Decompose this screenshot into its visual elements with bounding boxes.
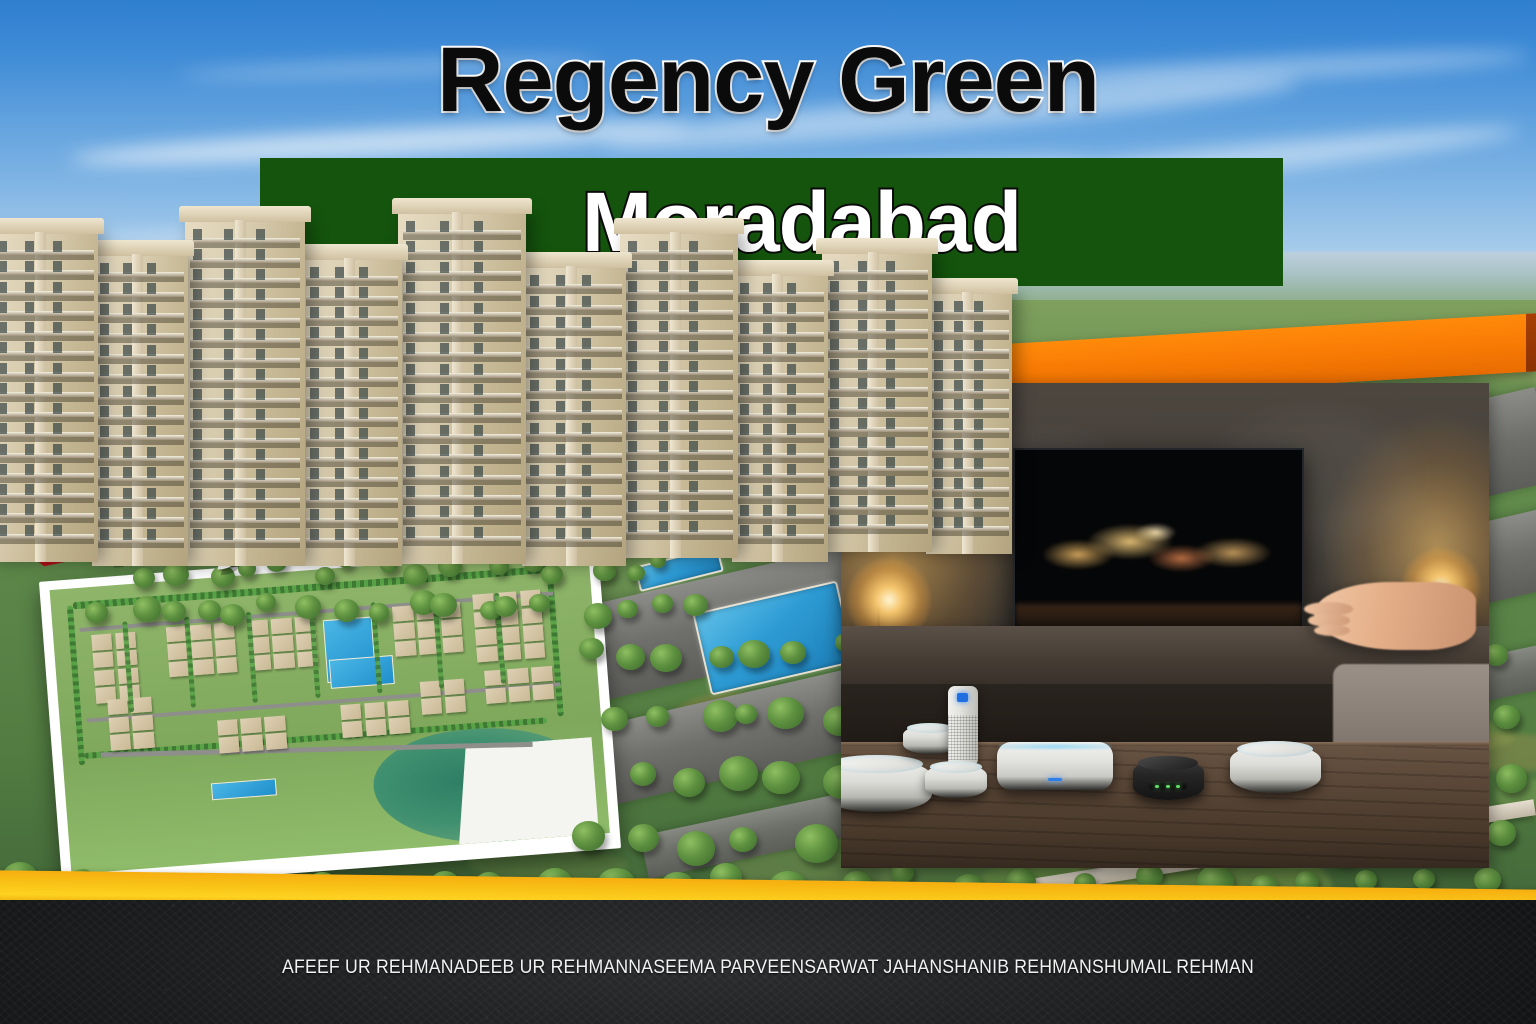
tower-window (954, 419, 963, 430)
tower-balcony (190, 518, 300, 523)
footer-texture-speck (387, 1019, 389, 1021)
tower-window (25, 282, 34, 293)
tower-window (628, 461, 637, 472)
tower-window (359, 489, 368, 500)
footer-texture-speck (149, 950, 150, 951)
footer-texture-speck (1263, 923, 1265, 925)
tower-window (147, 365, 156, 376)
tree (220, 604, 245, 626)
tower-window (474, 527, 483, 538)
tower-window (556, 465, 565, 476)
footer-texture-speck (1116, 933, 1119, 936)
tower-balcony (526, 410, 622, 415)
apartment-tower (185, 220, 305, 566)
footer-texture-speck (697, 1020, 699, 1022)
tower-window (886, 418, 895, 429)
footer-texture-speck (718, 917, 720, 919)
tower-window (256, 509, 265, 520)
tower-window (224, 329, 233, 340)
footer-texture-speck (1011, 953, 1012, 954)
tower-window (886, 457, 895, 468)
tower-window (556, 401, 565, 412)
footer-texture-speck (1405, 907, 1407, 909)
tower-window (689, 481, 698, 492)
footer-texture-speck (1448, 1001, 1450, 1003)
tower-window (123, 508, 132, 519)
tower-window (858, 457, 867, 468)
tower-window (256, 409, 265, 420)
footer-texture-speck (1136, 998, 1138, 1000)
tower-window (25, 302, 34, 313)
footer-texture-speck (43, 995, 45, 997)
footer-texture-speck (920, 987, 922, 989)
tower-window (763, 464, 772, 475)
tower-window (763, 384, 772, 395)
footer-texture-speck (277, 926, 279, 928)
credits-text: AFEEF UR REHMANADEEB UR REHMANNASEEMA PA… (54, 957, 1482, 979)
site-plan-villa-block (242, 734, 264, 751)
tower-balcony (625, 510, 734, 515)
tower-balcony (526, 453, 622, 458)
tower-balcony (826, 524, 927, 529)
footer-texture-speck (1172, 1006, 1175, 1009)
tower-balcony (826, 368, 927, 373)
tree (646, 706, 669, 726)
tower-window (0, 464, 7, 475)
tower-balcony (625, 410, 734, 415)
tower-window (53, 464, 62, 475)
tower-column (772, 274, 783, 562)
tower-balcony (736, 453, 824, 458)
tower-window (582, 507, 591, 518)
footer-texture-speck (361, 996, 364, 999)
tower-balcony (625, 310, 734, 315)
tower-balcony (625, 270, 734, 275)
tower-window (659, 241, 668, 252)
tower-window (193, 529, 202, 540)
tower-window (53, 261, 62, 272)
tower-window (830, 398, 839, 409)
tower-balcony (403, 250, 521, 255)
tower-window (123, 304, 132, 315)
tower-window (858, 418, 867, 429)
site-plan-villa-block (92, 652, 114, 669)
tower-column (235, 220, 246, 566)
tower-balcony (403, 495, 521, 500)
tower-window (740, 444, 749, 455)
apartment-tower (620, 232, 738, 558)
footer-texture-speck (1269, 949, 1271, 951)
tower-window (310, 529, 319, 540)
tower-window (582, 317, 591, 328)
tower-window (224, 289, 233, 300)
tower-balcony (306, 316, 398, 321)
footer-texture-speck (504, 986, 506, 988)
tower-window (763, 364, 772, 375)
footer-texture-speck (351, 944, 354, 947)
footer-texture-speck (1514, 910, 1515, 911)
footer-texture-speck (911, 1002, 913, 1004)
tower-balcony (0, 351, 94, 356)
tower-window (100, 304, 109, 315)
footer-texture-speck (416, 953, 418, 955)
tower-balcony (403, 475, 521, 480)
tower-balcony (96, 313, 184, 318)
site-plan-villa-block (532, 683, 554, 700)
tower-balcony (96, 435, 184, 440)
tower-balcony (306, 417, 398, 422)
tower-window (359, 287, 368, 298)
tower-window (25, 444, 34, 455)
site-plan-villa-block (364, 702, 386, 719)
tower-balcony (403, 291, 521, 296)
tower-window (193, 389, 202, 400)
tower-window (25, 464, 34, 475)
tower-window (886, 476, 895, 487)
tower-balcony (306, 538, 398, 543)
tower-balcony (96, 456, 184, 461)
tower-window (474, 486, 483, 497)
tower-window (556, 528, 565, 539)
tower-window (830, 515, 839, 526)
footer-texture-speck (751, 948, 752, 949)
footer-texture-speck (1099, 917, 1101, 919)
tower-window (256, 389, 265, 400)
tower-balcony (526, 305, 622, 310)
tower-balcony (96, 395, 184, 400)
footer-texture-speck (250, 922, 252, 924)
tower-balcony (190, 318, 300, 323)
tower-balcony (736, 514, 824, 519)
tower-window (147, 324, 156, 335)
tower-window (147, 529, 156, 540)
tower-window (530, 423, 539, 434)
tower-window (787, 485, 796, 496)
tower-window (440, 262, 449, 273)
site-plan-villa-block (94, 669, 116, 686)
tower-window (53, 363, 62, 374)
tower-balcony (190, 358, 300, 363)
tower-window (474, 303, 483, 314)
tower-balcony (190, 538, 300, 543)
footer-texture-speck (1336, 990, 1338, 992)
tower-window (763, 283, 772, 294)
tower-window (147, 304, 156, 315)
site-plan-pool (211, 779, 277, 801)
footer-texture-speck (541, 1003, 542, 1004)
tower-window (628, 441, 637, 452)
tower-window (530, 317, 539, 328)
footer-texture-speck (819, 949, 821, 951)
tower-window (858, 339, 867, 350)
tower-window (830, 437, 839, 448)
tree (677, 831, 715, 866)
footer-texture-speck (683, 949, 685, 951)
tree (403, 564, 428, 586)
footer-texture-speck (256, 906, 257, 907)
tower-window (123, 426, 132, 437)
tower-window (659, 421, 668, 432)
footer-texture-speck (1340, 942, 1343, 945)
tower-window (335, 489, 344, 500)
tower-window (659, 501, 668, 512)
footer-texture-speck (652, 1009, 654, 1011)
tower-balcony (96, 333, 184, 338)
dark-smart-speaker-device (1133, 759, 1204, 800)
footer-texture-speck (375, 944, 377, 946)
tower-window (628, 501, 637, 512)
tower-balcony (625, 370, 734, 375)
tower-window (474, 445, 483, 456)
site-plan-villa-block (531, 666, 553, 683)
tower-balcony (826, 407, 927, 412)
tower-window (787, 364, 796, 375)
tower-window (787, 283, 796, 294)
tree (334, 599, 359, 621)
footer-texture-speck (164, 988, 167, 991)
tower-window (934, 340, 943, 351)
tower-window (256, 349, 265, 360)
site-plan-villa-block (271, 617, 293, 634)
tower-window (474, 466, 483, 477)
tower-balcony (736, 373, 824, 378)
tower-balcony (0, 331, 94, 336)
footer-texture-speck (594, 903, 596, 905)
tower-window (224, 349, 233, 360)
tower-balcony (625, 430, 734, 435)
footer-texture-speck (858, 941, 861, 944)
tower-window (628, 341, 637, 352)
site-plan-villa-block (387, 700, 409, 717)
tower-window (740, 424, 749, 435)
footer-texture-speck (765, 953, 766, 954)
tower-window (582, 486, 591, 497)
tower-window (689, 361, 698, 372)
tower-window (406, 425, 415, 436)
tower-window (123, 345, 132, 356)
tower-window (25, 423, 34, 434)
tower-window (740, 404, 749, 415)
tower-window (406, 303, 415, 314)
tower-window (530, 528, 539, 539)
tower-window (530, 401, 539, 412)
tower-window (359, 509, 368, 520)
footer-texture-speck (1007, 907, 1009, 909)
tower-window (335, 388, 344, 399)
tower-window (628, 281, 637, 292)
tree (767, 697, 803, 730)
tower-balcony (0, 412, 94, 417)
footer-texture-speck (466, 941, 467, 942)
footer-texture-speck (1267, 994, 1270, 997)
tower-window (886, 281, 895, 292)
tower-window (406, 323, 415, 334)
tower-window (440, 527, 449, 538)
tower-window (974, 439, 983, 450)
tower-window (787, 525, 796, 536)
footer-texture-speck (1403, 990, 1405, 992)
tower-balcony (96, 272, 184, 277)
tower-window (740, 323, 749, 334)
footer-texture-speck (398, 1006, 401, 1009)
apartment-tower (926, 292, 1012, 554)
tower-balcony (190, 338, 300, 343)
footer-texture-speck (688, 905, 691, 908)
tower-balcony (403, 271, 521, 276)
footer-texture-speck (194, 952, 195, 953)
tower-balcony (306, 437, 398, 442)
tower-window (440, 343, 449, 354)
tower-window (763, 404, 772, 415)
smart-hub-box-device (997, 742, 1114, 791)
footer-texture-speck (66, 922, 69, 925)
tower-window (659, 261, 668, 272)
tower-balcony (526, 495, 622, 500)
site-plan-villa-block (273, 653, 295, 670)
site-plan-villa-block (110, 734, 132, 751)
footer-texture-speck (357, 1007, 359, 1009)
tower-window (310, 348, 319, 359)
tower-window (0, 525, 7, 536)
tower-window (256, 469, 265, 480)
footer-texture-speck (397, 930, 399, 932)
tree (762, 761, 799, 794)
tower-roof (0, 218, 104, 234)
tower-window (53, 504, 62, 515)
tower-balcony (526, 326, 622, 331)
tower-balcony (0, 291, 94, 296)
footer-texture-speck (754, 1001, 755, 1002)
tower-balcony (0, 432, 94, 437)
tower-window (934, 380, 943, 391)
tower-window (858, 378, 867, 389)
tower-window (359, 468, 368, 479)
footer-texture-speck (126, 994, 128, 996)
tower-window (53, 484, 62, 495)
site-plan-villa-block (442, 637, 464, 654)
tower-window (474, 282, 483, 293)
tree (709, 646, 734, 668)
site-plan-villa-block (389, 717, 411, 734)
tree (579, 638, 603, 660)
tower-window (193, 429, 202, 440)
tower-window (530, 465, 539, 476)
tower-window (53, 241, 62, 252)
tower-window (556, 486, 565, 497)
site-plan-villa-block (108, 716, 130, 733)
footer-texture-speck (1079, 915, 1080, 916)
tower-balcony (96, 476, 184, 481)
site-plan-villa-block (107, 699, 129, 716)
tower-window (530, 380, 539, 391)
tower-window (147, 426, 156, 437)
tower-window (193, 469, 202, 480)
site-plan-villa-block (132, 714, 154, 731)
tower-balcony (403, 332, 521, 337)
footer-texture-speck (546, 1008, 548, 1010)
footer-texture-speck (359, 903, 361, 905)
tower-window (406, 221, 415, 232)
tower-balcony (625, 350, 734, 355)
tower-window (123, 263, 132, 274)
tree (628, 824, 659, 852)
site-plan-pool (328, 655, 395, 688)
tower-window (0, 363, 7, 374)
tower-window (310, 489, 319, 500)
tower-window (974, 498, 983, 509)
tree (1496, 764, 1527, 792)
tower-window (224, 389, 233, 400)
tower-window (974, 458, 983, 469)
footer-texture-speck (372, 942, 374, 944)
tower-window (530, 338, 539, 349)
footer-texture-speck (318, 920, 320, 922)
tower-window (0, 322, 7, 333)
apartment-tower (92, 254, 188, 566)
footer-texture-speck (460, 908, 462, 910)
tower-window (359, 368, 368, 379)
tower-window (224, 229, 233, 240)
footer-texture-speck (1303, 936, 1304, 937)
footer-texture-speck (521, 921, 522, 922)
footer-texture-speck (319, 1007, 321, 1009)
footer-texture-speck (516, 923, 519, 926)
tower-window (406, 282, 415, 293)
tower-window (310, 408, 319, 419)
footer-texture-speck (1326, 907, 1327, 908)
tower-window (310, 368, 319, 379)
tower-window (830, 378, 839, 389)
footer-texture-speck (839, 903, 841, 905)
tower-window (954, 458, 963, 469)
footer-texture-speck (825, 1015, 827, 1017)
footer-texture-speck (150, 1014, 153, 1017)
tower-window (858, 300, 867, 311)
footer-texture-speck (412, 993, 413, 994)
tower-window (147, 386, 156, 397)
tower-window (440, 445, 449, 456)
tower-window (740, 505, 749, 516)
footer-texture-speck (913, 918, 914, 919)
tower-window (193, 449, 202, 460)
footer-texture-speck (1152, 939, 1154, 941)
tower-balcony (403, 373, 521, 378)
tower-window (359, 408, 368, 419)
site-plan-villa-block (475, 628, 497, 645)
tower-window (582, 380, 591, 391)
footer-texture-speck (1186, 941, 1188, 943)
site-plan-villa-block (524, 642, 546, 659)
tree (162, 601, 186, 623)
tower-window (310, 448, 319, 459)
footer-texture-speck (318, 905, 321, 908)
footer-texture-speck (762, 946, 763, 947)
tower-window (123, 488, 132, 499)
tower-balcony (403, 230, 521, 235)
footer-texture-speck (121, 912, 122, 913)
tower-balcony (96, 354, 184, 359)
footer-texture-speck (1495, 937, 1496, 938)
tree (1487, 820, 1516, 846)
footer-texture-speck (317, 943, 319, 945)
footer-texture-speck (162, 942, 164, 944)
tower-window (474, 404, 483, 415)
footer-texture-speck (1068, 937, 1069, 938)
footer-texture-speck (523, 907, 525, 909)
footer-texture-speck (208, 915, 209, 916)
tower-window (689, 441, 698, 452)
tower-balcony (0, 493, 94, 498)
